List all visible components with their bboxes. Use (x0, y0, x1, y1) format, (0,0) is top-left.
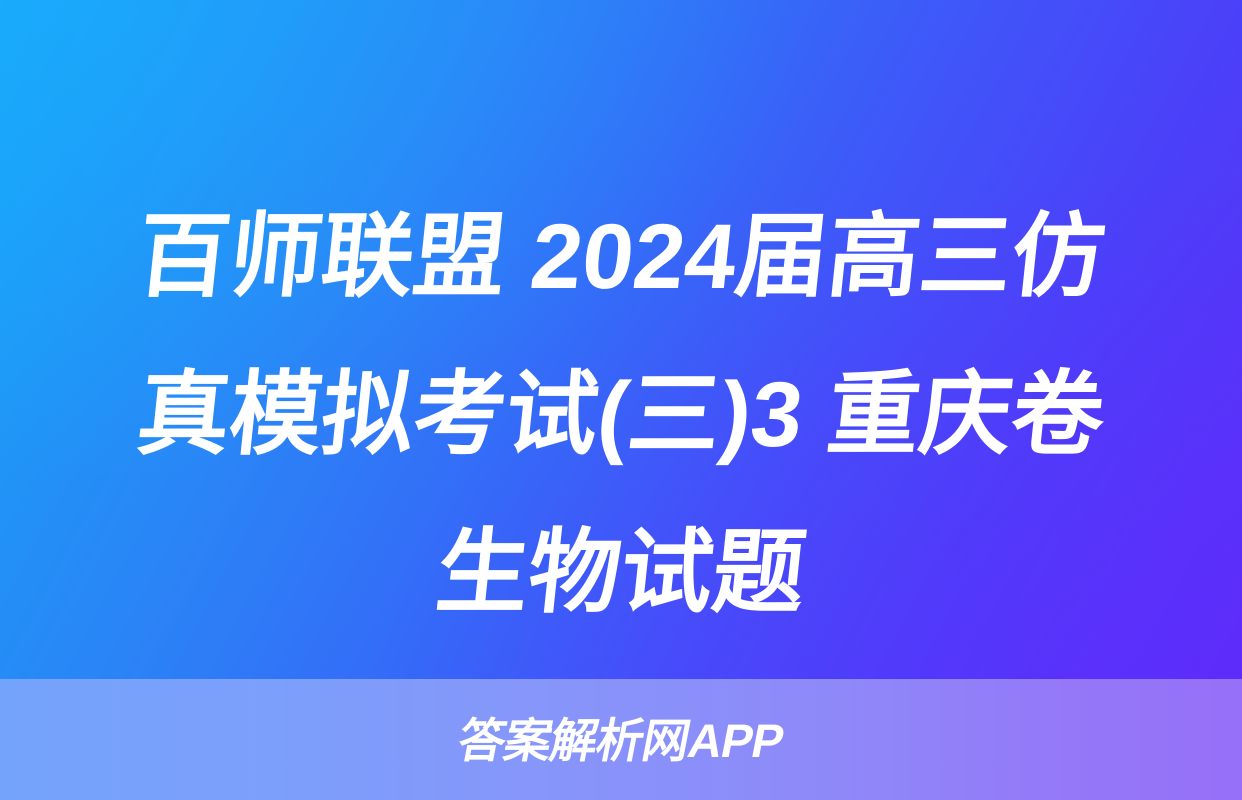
poster-canvas: 百师联盟 2024届高三仿 真模拟考试(三)3 重庆卷 生物试题 答案解析网AP… (0, 0, 1242, 800)
watermark-text: 答案解析网APP (455, 717, 788, 764)
page-title: 百师联盟 2024届高三仿 真模拟考试(三)3 重庆卷 生物试题 (0, 178, 1242, 652)
title-line-1: 百师联盟 2024届高三仿 (32, 178, 1211, 336)
watermark-band: 答案解析网APP (0, 679, 1242, 800)
title-line-2: 真模拟考试(三)3 重庆卷 (32, 336, 1211, 494)
title-line-3: 生物试题 (32, 494, 1211, 652)
